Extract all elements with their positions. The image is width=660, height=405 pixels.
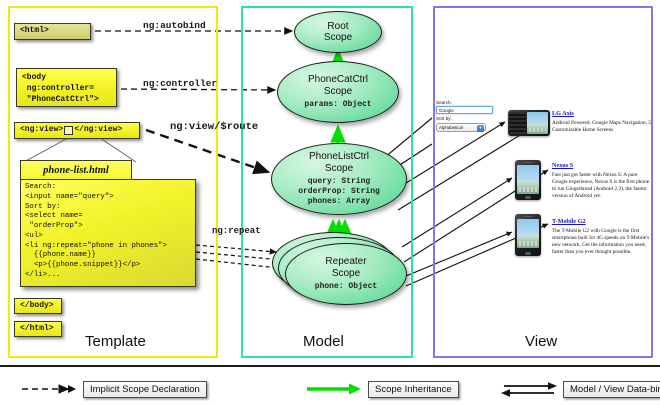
tag-ng-view-close: </ng:view>: [74, 125, 122, 136]
tag-ng-view-open: <ng:view>: [20, 125, 63, 136]
tag-body-close: </body>: [14, 298, 62, 314]
edge-label-ng-view-route: ng:view/$route: [170, 121, 258, 133]
phone-snippet: The T-Mobile G2 with Google is the first…: [552, 228, 652, 256]
scope-repeater-props: phone: Object: [315, 282, 377, 292]
scope-phonecatctrl: PhoneCatCtrl Scope params: Object: [277, 61, 399, 123]
edge-label-ng-repeat: ng:repeat: [212, 226, 261, 236]
tag-body-open: <body ng:controller= "PhoneCatCtrl">: [16, 68, 117, 107]
scope-phonelistctrl-title: PhoneListCtrl Scope: [309, 151, 369, 173]
legend-label-scope-inheritance: Scope Inheritance: [368, 381, 459, 398]
note-filename-tab: phone-list.html: [20, 160, 132, 180]
template-note-phone-list: phone-list.html Search: <input name="que…: [20, 160, 196, 288]
phone-link-tmobile-g2[interactable]: T-Mobile G2: [552, 218, 652, 225]
scope-root: Root Scope: [294, 11, 382, 53]
tag-html-close: </html>: [14, 321, 62, 337]
legend-item-scope-inheritance: Scope Inheritance: [305, 380, 459, 398]
edge-label-ng-autobind: ng:autobind: [143, 20, 206, 31]
legend-label-implicit-scope: Implicit Scope Declaration: [83, 381, 207, 398]
list-item: LG Axis Android Powered, Google Maps Nav…: [552, 110, 652, 134]
scope-root-title: Root Scope: [324, 21, 352, 43]
scope-phonecatctrl-props: params: Object: [304, 100, 371, 110]
list-item: T-Mobile G2 The T-Mobile G2 with Google …: [552, 218, 652, 256]
scope-phonelistctrl-props: query: String orderProp: String phones: …: [298, 177, 380, 207]
phone-thumbnail-lg-axis: [508, 110, 550, 136]
column-label-view: View: [525, 333, 557, 350]
legend-item-implicit-scope: Implicit Scope Declaration: [20, 380, 207, 398]
phone-snippet: Android Powered, Google Maps Navigation,…: [552, 120, 652, 134]
tag-ng-view: <ng:view></ng:view>: [14, 122, 140, 139]
legend-label-data-binding: Model / View Data-binding: [563, 381, 660, 398]
sort-label: Sort by:: [436, 116, 498, 121]
legend-divider: [0, 365, 660, 367]
sort-select[interactable]: Alphabetical ▾: [436, 123, 486, 132]
search-label: Search:: [436, 100, 498, 105]
green-arrow-icon: [305, 380, 363, 398]
scope-phonelistctrl: PhoneListCtrl Scope query: String orderP…: [271, 143, 407, 215]
legend-item-data-binding: Model / View Data-binding: [500, 380, 660, 398]
phone-link-lg-axis[interactable]: LG Axis: [552, 110, 652, 117]
column-label-model: Model: [303, 333, 344, 350]
search-input[interactable]: Google: [436, 106, 493, 114]
scope-repeater: Repeater Scope phone: Object: [285, 243, 407, 305]
column-label-template: Template: [85, 333, 146, 350]
double-arrow-icon: [500, 380, 558, 398]
view-search-form: Search: Google Sort by: Alphabetical ▾: [436, 100, 498, 144]
list-item: Nexus S Fast just got faster with Nexus …: [552, 162, 652, 200]
scope-repeater-title: Repeater Scope: [325, 256, 366, 278]
dashed-arrow-icon: [20, 380, 78, 398]
chevron-down-icon: ▾: [477, 125, 484, 132]
scope-phonecatctrl-title: PhoneCatCtrl Scope: [308, 74, 368, 96]
note-code-body: Search: <input name="query"> Sort by: <s…: [20, 179, 196, 287]
phone-thumbnail-tmobile-g2: [515, 214, 541, 256]
sort-select-value: Alphabetical: [439, 125, 463, 130]
tag-html-open: <html>: [14, 23, 91, 40]
ng-view-placeholder-icon: [64, 126, 73, 135]
phone-thumbnail-nexus-s: [515, 160, 541, 200]
phone-link-nexus-s[interactable]: Nexus S: [552, 162, 652, 169]
edge-label-ng-controller: ng:controller: [143, 78, 217, 89]
diagram-canvas: Root Scope --> PhoneCatCtrl Scope --> Ph…: [0, 0, 660, 405]
phone-snippet: Fast just got faster with Nexus S. A pur…: [552, 172, 652, 200]
